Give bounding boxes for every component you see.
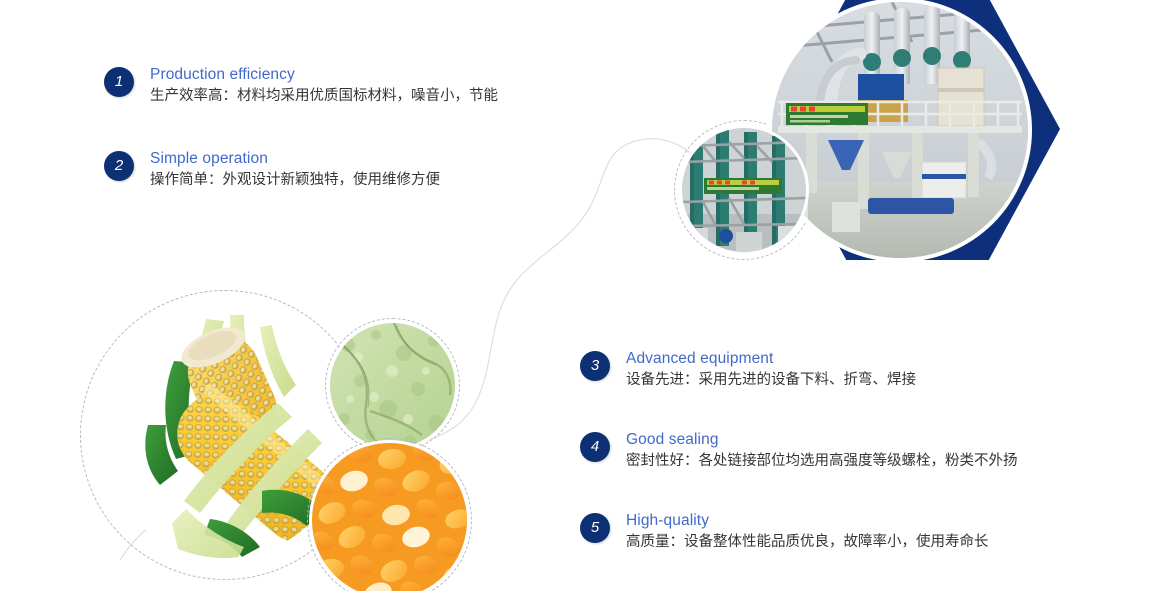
feature-number-badge: 1 xyxy=(104,67,134,97)
feature-title: Advanced equipment xyxy=(626,348,1100,369)
feature-title: Production efficiency xyxy=(150,64,574,85)
corn-paste-photo xyxy=(330,323,455,448)
feature-description: 生产效率高：材料均采用优质国标材料，噪音小，节能 xyxy=(150,85,574,108)
mill-plant-photo xyxy=(772,2,1028,258)
feature-infographic: 1 Production efficiency 生产效率高：材料均采用优质国标材… xyxy=(0,0,1154,591)
corn-kernels-photo xyxy=(312,443,467,591)
feature-number-badge: 2 xyxy=(104,151,134,181)
feature-title: High-quality xyxy=(626,510,1100,531)
feature-title: Good sealing xyxy=(626,429,1100,450)
feature-title: Simple operation xyxy=(150,148,574,169)
feature-list-top: 1 Production efficiency 生产效率高：材料均采用优质国标材… xyxy=(104,64,574,232)
feature-number-badge: 3 xyxy=(580,351,610,381)
feature-description: 密封性好：各处链接部位均选用高强度等级螺栓，粉类不外扬 xyxy=(626,450,1100,473)
feature-item-3[interactable]: 3 Advanced equipment 设备先进：采用先进的设备下料、折弯、焊… xyxy=(580,348,1100,392)
feature-number-badge: 4 xyxy=(580,432,610,462)
feature-description: 高质量：设备整体性能品质优良，故障率小，使用寿命长 xyxy=(626,531,1100,554)
feature-item-5[interactable]: 5 High-quality 高质量：设备整体性能品质优良，故障率小，使用寿命长 xyxy=(580,510,1100,554)
feature-description: 设备先进：采用先进的设备下料、折弯、焊接 xyxy=(626,369,1100,392)
feature-item-4[interactable]: 4 Good sealing 密封性好：各处链接部位均选用高强度等级螺栓，粉类不… xyxy=(580,429,1100,473)
corn-photo-group xyxy=(80,280,480,591)
feature-number-badge: 5 xyxy=(580,513,610,543)
feature-description: 操作简单：外观设计新颖独特，使用维修方便 xyxy=(150,169,574,192)
side-mill-photo xyxy=(682,128,806,252)
feature-item-2[interactable]: 2 Simple operation 操作简单：外观设计新颖独特，使用维修方便 xyxy=(104,148,574,192)
hexagon-photo-group xyxy=(660,0,1154,290)
feature-item-1[interactable]: 1 Production efficiency 生产效率高：材料均采用优质国标材… xyxy=(104,64,574,108)
feature-list-bottom: 3 Advanced equipment 设备先进：采用先进的设备下料、折弯、焊… xyxy=(580,348,1100,591)
